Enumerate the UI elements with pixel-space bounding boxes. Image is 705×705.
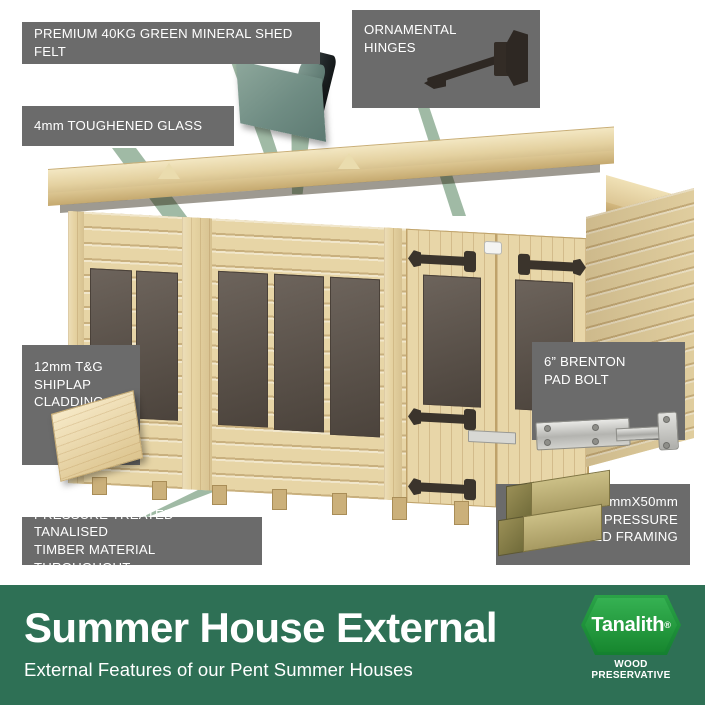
hinge-leaf	[506, 30, 528, 86]
callout-tanalised-line1: PRESSURE TREATED TANALISED	[34, 506, 250, 541]
product-illustration: PREMIUM 40KG GREEN MINERAL SHED FELT ORN…	[0, 0, 705, 585]
window-pane	[136, 271, 178, 421]
window-pane	[274, 274, 324, 433]
bolt-screw	[544, 439, 551, 446]
ornamental-hinge-sample	[424, 24, 532, 94]
callout-padbolt-line2: PAD BOLT	[544, 371, 673, 389]
infographic-page: PREMIUM 40KG GREEN MINERAL SHED FELT ORN…	[0, 0, 705, 705]
logo-tagline: WOOD PRESERVATIVE	[575, 659, 687, 681]
hinge-icon	[527, 260, 579, 272]
door-catch[interactable]	[484, 241, 502, 255]
bolt-screw	[592, 424, 599, 431]
front-wall	[68, 211, 589, 510]
door-pad-bolt[interactable]	[468, 430, 516, 445]
callout-tanalised-line2: TIMBER MATERIAL THROUGHOUT.	[34, 541, 250, 576]
logo-wordmark: Tanalith®	[585, 598, 677, 652]
tanalith-logo: Tanalith® WOOD PRESERVATIVE	[575, 593, 687, 693]
timber-batten-sample	[498, 476, 610, 564]
floor-bearer	[454, 501, 469, 525]
floor-bearer	[272, 489, 287, 510]
callout-premium-felt: PREMIUM 40KG GREEN MINERAL SHED FELT	[22, 22, 320, 64]
page-title: Summer House External	[24, 607, 497, 649]
floor-bearer	[152, 481, 167, 500]
floor-bearer	[332, 493, 347, 515]
callout-glass-text: 4mm TOUGHENED GLASS	[34, 117, 222, 135]
hinge-icon	[415, 254, 467, 266]
callout-cladding-line2: SHIPLAP	[34, 376, 128, 394]
logo-registered-mark: ®	[664, 620, 670, 630]
hinge-icon	[415, 412, 467, 424]
door-left[interactable]	[406, 229, 496, 508]
pad-bolt-sample	[530, 398, 685, 460]
callout-premium-felt-text: PREMIUM 40KG GREEN MINERAL SHED FELT	[34, 25, 308, 60]
bolt-screw	[592, 438, 599, 445]
footer-banner: Summer House External External Features …	[0, 585, 705, 705]
window-pane	[218, 271, 268, 428]
window-pane	[330, 277, 380, 438]
floor-bearer	[212, 485, 227, 505]
door-window-pane	[423, 275, 481, 408]
floor-bearer	[392, 497, 407, 520]
callout-toughened-glass: 4mm TOUGHENED GLASS	[22, 106, 234, 146]
callout-cladding-line1: 12mm T&G	[34, 358, 128, 376]
callout-ornamental-hinges: ORNAMENTAL HINGES	[352, 10, 540, 108]
logo-brand-text: Tanalith	[591, 614, 664, 637]
bolt-screw	[663, 442, 670, 449]
bolt-screw	[544, 425, 551, 432]
callout-pressure-treated: PRESSURE TREATED TANALISED TIMBER MATERI…	[22, 517, 262, 565]
mullion-post-2	[384, 228, 402, 501]
page-subtitle: External Features of our Pent Summer Hou…	[24, 659, 413, 681]
batten-end-grain	[498, 516, 526, 556]
mullion-post	[182, 217, 212, 491]
floor-bearer	[92, 477, 107, 495]
bolt-screw	[663, 416, 670, 423]
callout-padbolt-line1: 6” BRENTON	[544, 353, 673, 371]
hinge-icon	[415, 482, 467, 494]
felt-sample	[238, 52, 338, 148]
